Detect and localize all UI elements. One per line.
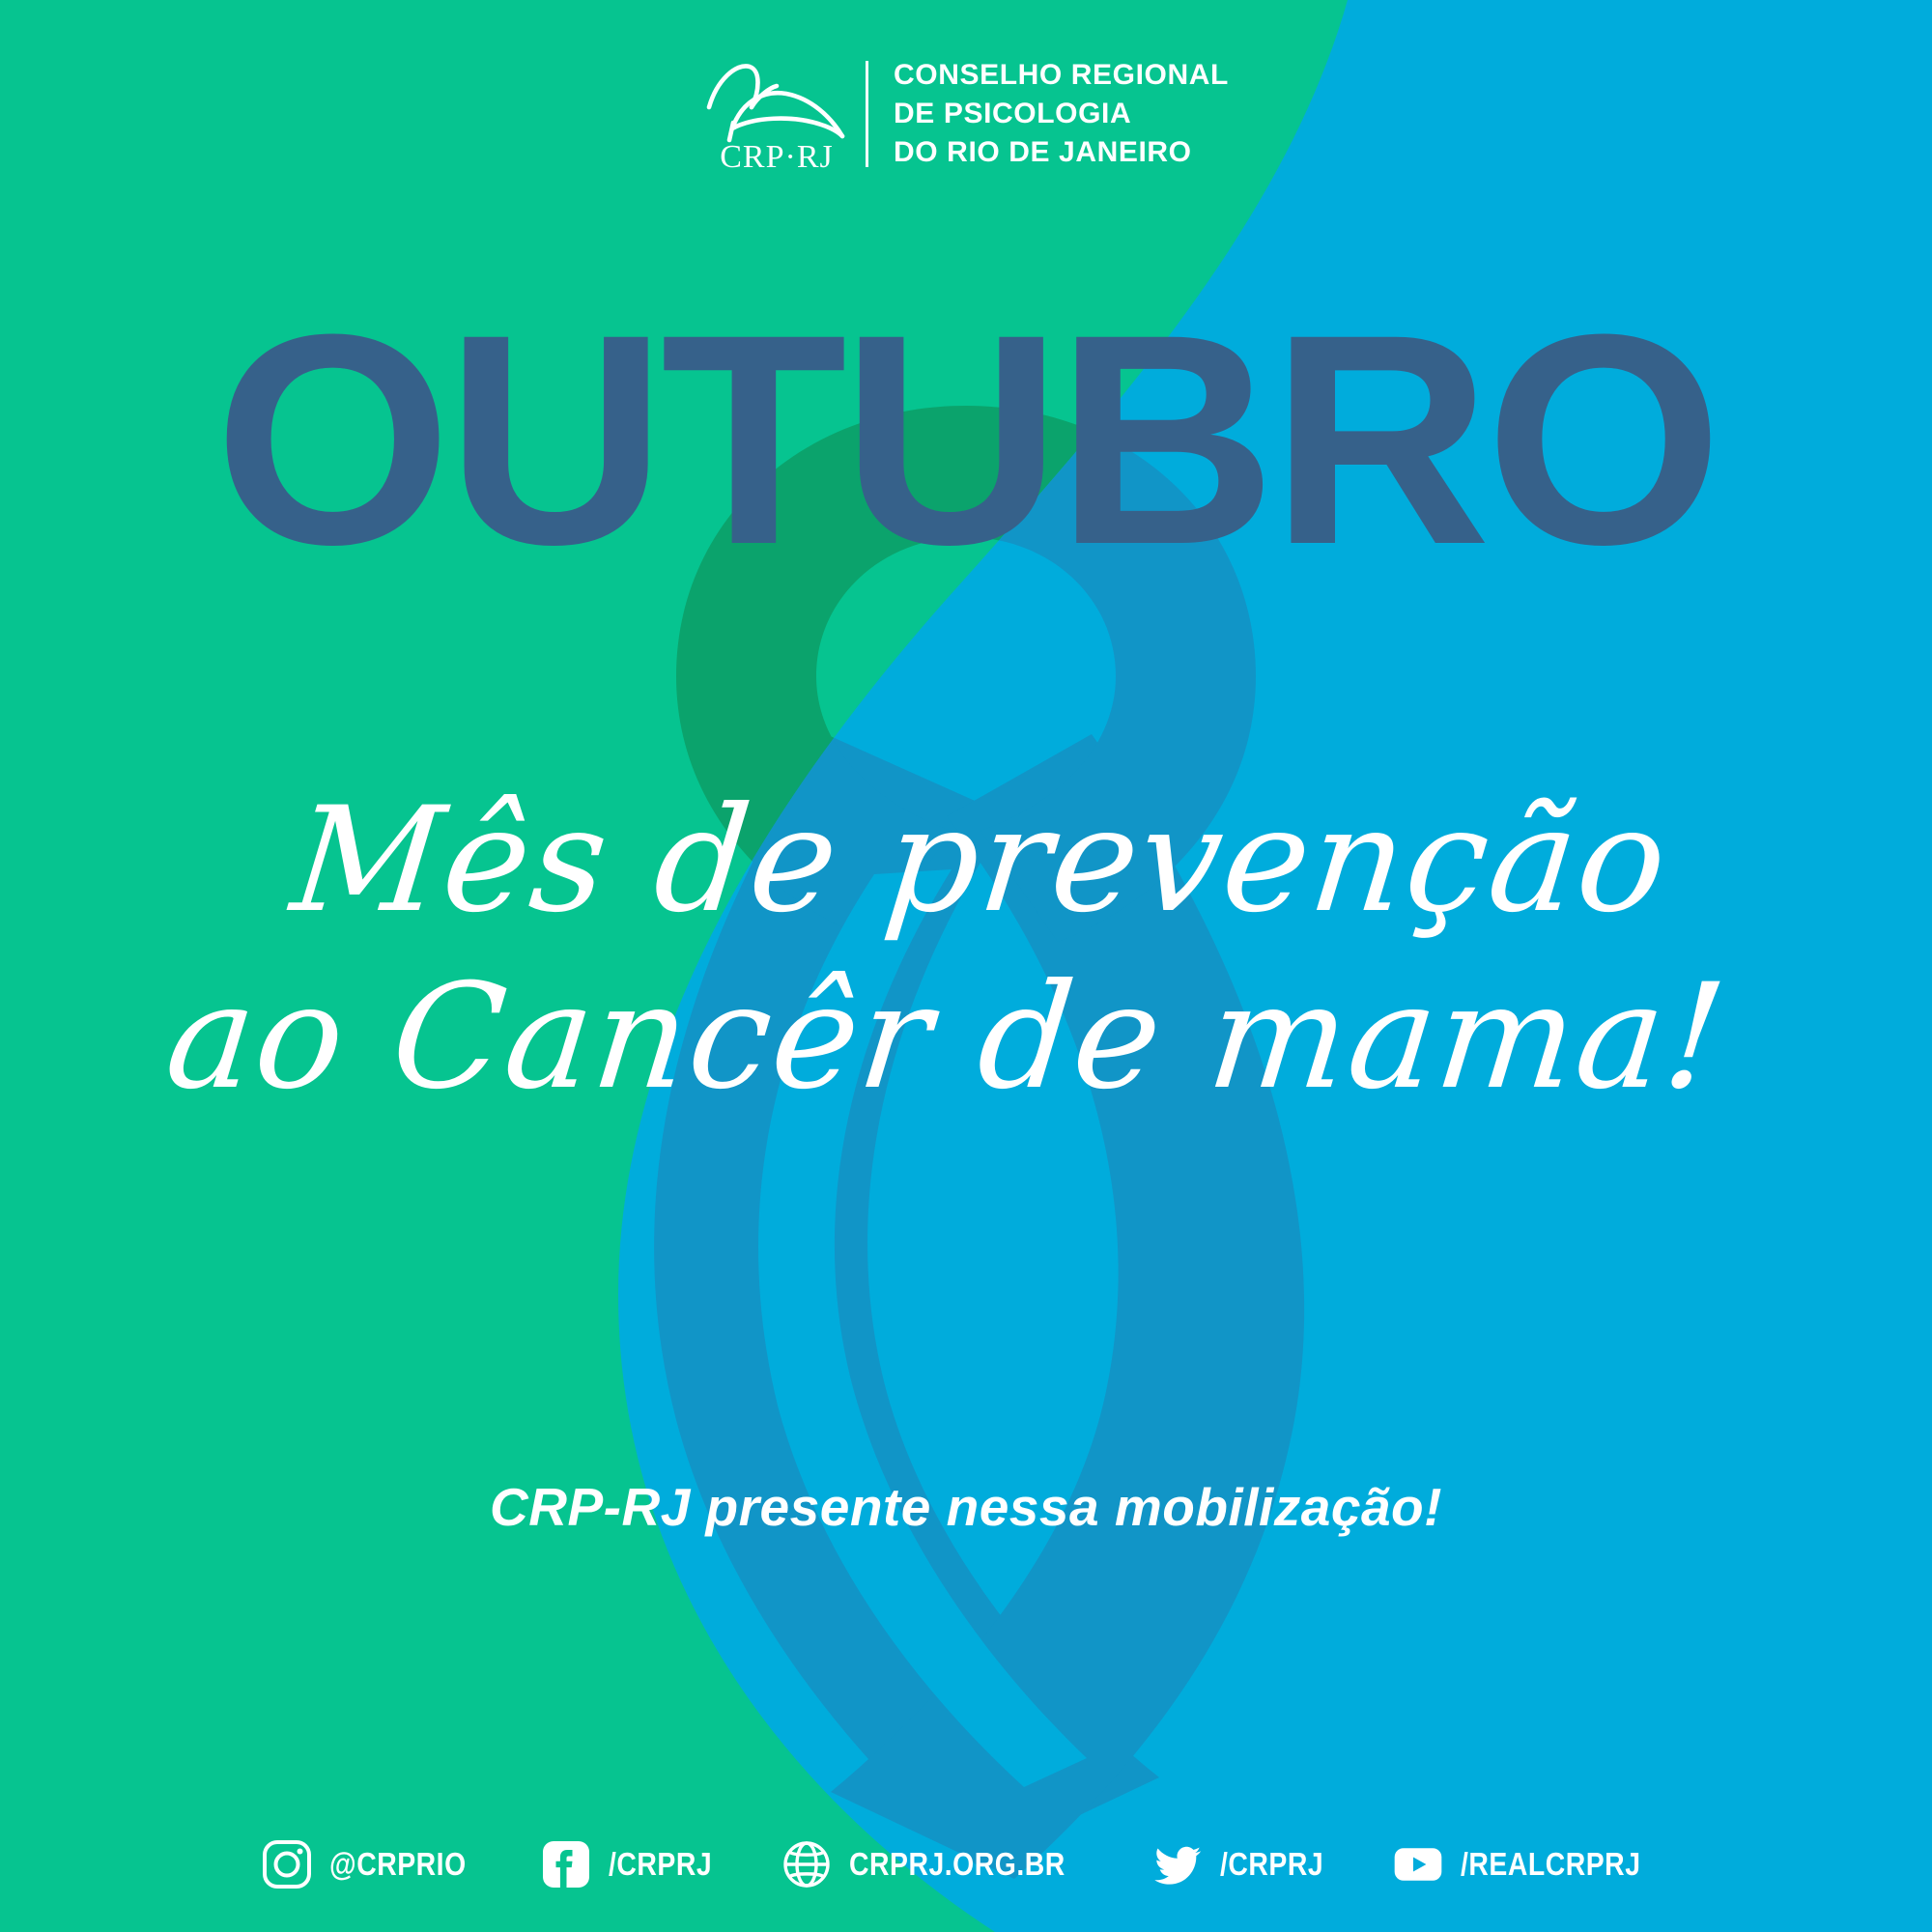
headline-outubro: OUTUBRO xyxy=(0,290,1932,589)
headline-text: OUTUBRO xyxy=(214,290,1718,589)
crp-rj-bird-book-logo-icon: CRP·RJ xyxy=(703,57,850,171)
social-item-facebook[interactable]: /CRPRJ xyxy=(541,1839,729,1889)
poster-canvas: CRP·RJ CONSELHO REGIONAL DE PSICOLOGIA D… xyxy=(0,0,1932,1932)
social-label-website: CRPRJ.ORG.BR xyxy=(849,1846,1065,1883)
social-label-twitter: /CRPRJ xyxy=(1220,1846,1323,1883)
social-label-youtube: /REALCRPRJ xyxy=(1461,1846,1640,1883)
social-item-youtube[interactable]: /REALCRPRJ xyxy=(1393,1839,1670,1889)
social-item-website[interactable]: CRPRJ.ORG.BR xyxy=(781,1839,1100,1889)
social-label-instagram: @CRPRIO xyxy=(329,1846,467,1883)
script-headline: Mês de prevenção ao Cancêr de mama! xyxy=(0,773,1932,1126)
header-logo-block: CRP·RJ CONSELHO REGIONAL DE PSICOLOGIA D… xyxy=(0,56,1932,172)
org-line-1: CONSELHO REGIONAL xyxy=(894,56,1229,95)
script-line-1: Mês de prevenção xyxy=(19,773,1932,950)
social-item-twitter[interactable]: /CRPRJ xyxy=(1152,1839,1341,1889)
org-line-2: DE PSICOLOGIA xyxy=(894,95,1229,133)
instagram-icon xyxy=(262,1839,312,1889)
globe-icon xyxy=(781,1839,832,1889)
social-label-facebook: /CRPRJ xyxy=(609,1846,712,1883)
youtube-icon xyxy=(1393,1839,1443,1889)
facebook-icon xyxy=(541,1839,591,1889)
tagline: CRP-RJ presente nessa mobilização! xyxy=(0,1476,1932,1538)
logo-wordmark-text: CRP·RJ xyxy=(720,139,834,171)
organization-name: CONSELHO REGIONAL DE PSICOLOGIA DO RIO D… xyxy=(894,56,1229,172)
script-line-2: ao Cancêr de mama! xyxy=(0,950,1932,1126)
social-item-instagram[interactable]: @CRPRIO xyxy=(262,1839,489,1889)
social-media-bar: @CRPRIO /CRPRJ CRPRJ.ORG.BR xyxy=(0,1826,1932,1903)
twitter-icon xyxy=(1152,1839,1203,1889)
logo-divider xyxy=(866,61,868,167)
org-line-3: DO RIO DE JANEIRO xyxy=(894,133,1229,172)
